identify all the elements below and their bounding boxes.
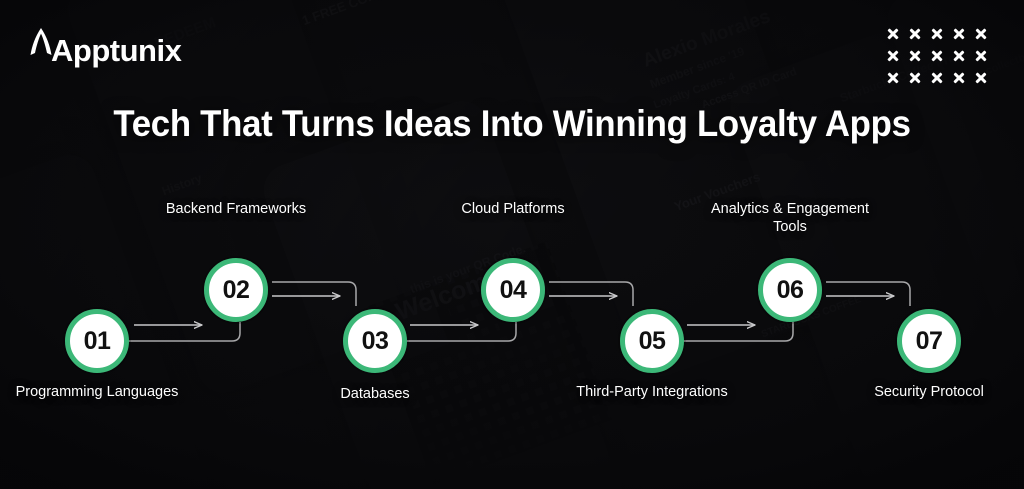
- flow-step-03-number: 03: [362, 329, 389, 354]
- flow-step-04-number: 04: [500, 278, 527, 303]
- flow-step-07-label: Security Protocol: [834, 383, 1024, 401]
- flow-step-05-number: 05: [639, 329, 666, 354]
- x-mark-icon: [949, 68, 969, 88]
- flow-connectors: [0, 0, 1024, 489]
- flow-step-03-label: Databases: [280, 385, 470, 403]
- x-mark-icon: [883, 24, 903, 44]
- flow-step-02-node[interactable]: 02: [204, 258, 268, 322]
- process-flow-diagram: 01 Programming Languages 02 Backend Fram…: [0, 0, 1024, 489]
- connector-elbow-06-07: [826, 282, 910, 306]
- connector-elbow-04-05: [549, 282, 633, 306]
- connector-elbow-02-03: [272, 282, 356, 306]
- flow-step-05-node[interactable]: 05: [620, 309, 684, 373]
- flow-step-04-node[interactable]: 04: [481, 258, 545, 322]
- flow-step-07-number: 07: [916, 329, 943, 354]
- x-mark-icon: [971, 24, 991, 44]
- x-mark-icon: [905, 68, 925, 88]
- flow-step-07-node[interactable]: 07: [897, 309, 961, 373]
- x-mark-icon: [883, 68, 903, 88]
- x-mark-icon: [971, 68, 991, 88]
- flow-step-06-label: Analytics & Engagement Tools: [695, 200, 885, 237]
- x-mark-icon: [949, 24, 969, 44]
- flow-step-02-label: Backend Frameworks: [141, 200, 331, 218]
- x-mark-icon: [949, 46, 969, 66]
- apptunix-logo-text: Apptunix: [51, 35, 181, 66]
- x-mark-icon: [927, 46, 947, 66]
- flow-step-01-label: Programming Languages: [2, 383, 192, 401]
- flow-step-05-label: Third-Party Integrations: [557, 383, 747, 401]
- x-mark-icon: [927, 24, 947, 44]
- flow-step-02-number: 02: [223, 278, 250, 303]
- apptunix-logo[interactable]: Apptunix: [28, 26, 181, 66]
- flow-step-03-node[interactable]: 03: [343, 309, 407, 373]
- flow-step-06-number: 06: [777, 278, 804, 303]
- flow-step-06-node[interactable]: 06: [758, 258, 822, 322]
- x-mark-icon: [927, 68, 947, 88]
- x-mark-icon: [905, 46, 925, 66]
- x-mark-icon: [905, 24, 925, 44]
- flow-step-04-label: Cloud Platforms: [418, 200, 608, 218]
- apptunix-arch-logo-icon: [28, 26, 54, 66]
- page-title: Tech That Turns Ideas Into Winning Loyal…: [31, 103, 994, 145]
- x-mark-icon: [971, 46, 991, 66]
- x-mark-icon: [883, 46, 903, 66]
- infographic-canvas: REDEEM History 1 FREE COFFEE Alexio Mora…: [0, 0, 1024, 489]
- flow-step-01-node[interactable]: 01: [65, 309, 129, 373]
- x-mark-grid-decoration: [883, 24, 991, 88]
- flow-step-01-number: 01: [84, 329, 111, 354]
